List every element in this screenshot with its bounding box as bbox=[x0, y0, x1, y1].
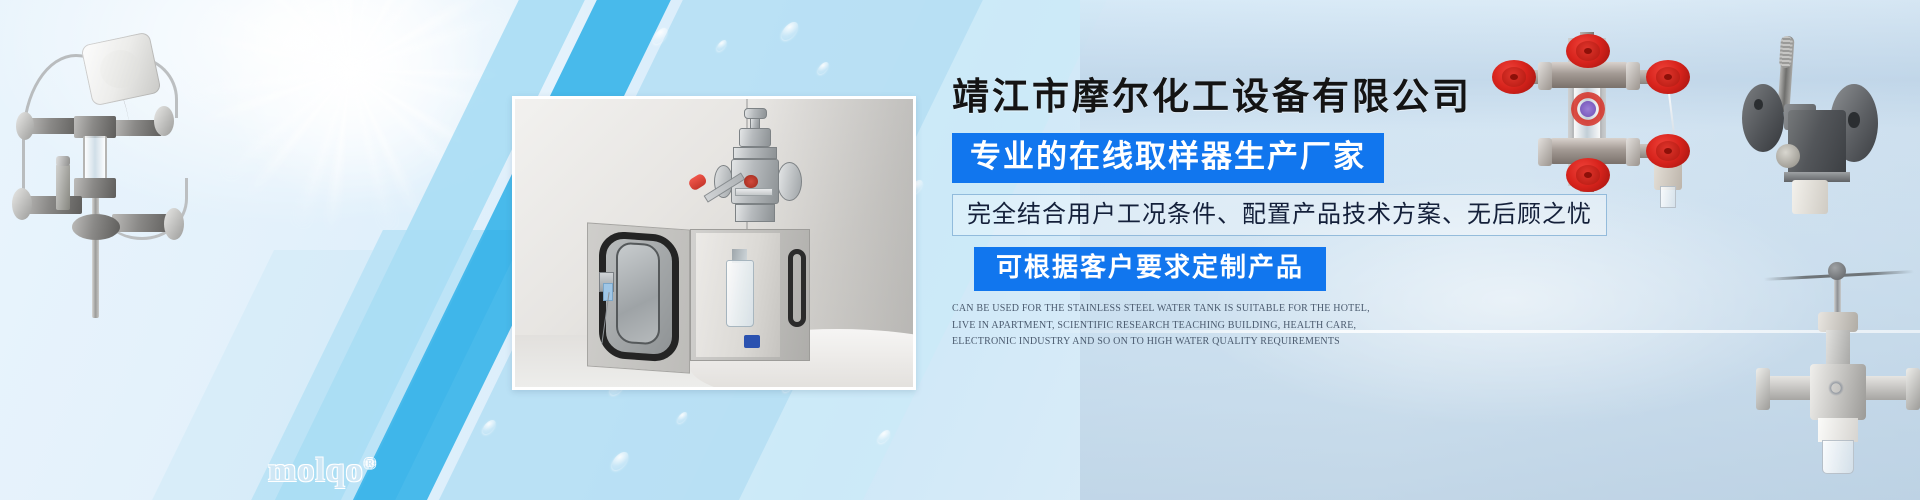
sample-bottle bbox=[726, 260, 754, 326]
valve-hub-mid bbox=[74, 178, 116, 198]
sampler-arm-left bbox=[1762, 376, 1814, 400]
tagline-bar: 可根据客户要求定制产品 bbox=[974, 247, 1326, 291]
relief-valve-cap bbox=[56, 156, 70, 166]
flange-lower-right bbox=[164, 208, 184, 240]
relief-valve-body bbox=[56, 164, 70, 210]
valve-brand-badge bbox=[744, 175, 757, 188]
flange-upper-right bbox=[154, 106, 174, 136]
headline-bar: 专业的在线取样器生产厂家 bbox=[952, 133, 1384, 183]
company-title: 靖江市摩尔化工设备有限公司 bbox=[952, 78, 1852, 119]
valve-arm-upper-right bbox=[112, 120, 162, 136]
tubing-arc-upper bbox=[22, 54, 130, 200]
sampling-valve-assembly bbox=[710, 108, 806, 238]
lever-handle-grip bbox=[1779, 36, 1793, 69]
product-photo bbox=[512, 96, 916, 390]
transmitter-dial bbox=[96, 46, 143, 91]
cabinet-door-window bbox=[616, 241, 660, 345]
sampler-flange-right bbox=[1906, 368, 1920, 410]
left-equipment-illustration bbox=[8, 28, 198, 318]
valve-arm-lower-right bbox=[112, 214, 172, 232]
valve-flange-right bbox=[777, 162, 802, 201]
valve-hub-upper bbox=[74, 116, 116, 138]
valve-mid-collar bbox=[733, 147, 777, 160]
valve-upper-housing bbox=[739, 128, 771, 146]
valve-tree-stem-top bbox=[1580, 32, 1594, 64]
valve-nameplate bbox=[735, 188, 773, 196]
brand-watermark: molqo® bbox=[268, 452, 377, 490]
sight-glass bbox=[83, 136, 107, 182]
handwheel-top bbox=[1566, 34, 1610, 68]
headline-text: 专业的在线取样器生产厂家 bbox=[970, 139, 1366, 174]
valve-hub-lower bbox=[72, 214, 120, 240]
cabinet-side-handle bbox=[788, 249, 806, 327]
tubing-arc-top-right bbox=[116, 56, 178, 118]
valve-arm-upper-left bbox=[26, 118, 80, 134]
tagline-text: 可根据客户要求定制产品 bbox=[996, 252, 1304, 282]
sun-flare-decoration bbox=[150, 0, 550, 270]
banner-text-block: 靖江市摩尔化工设备有限公司 专业的在线取样器生产厂家 完全结合用户工况条件、配置… bbox=[952, 78, 1852, 351]
sampler-collar bbox=[1818, 418, 1858, 442]
sampler-valve-body bbox=[1810, 364, 1866, 420]
valve-base bbox=[735, 204, 775, 222]
english-description: CAN BE USED FOR THE STAINLESS STEEL WATE… bbox=[952, 301, 1372, 351]
promotional-banner: 靖江市摩尔化工设备有限公司 专业的在线取样器生产厂家 完全结合用户工况条件、配置… bbox=[0, 0, 1920, 500]
flange-lower-left bbox=[12, 188, 32, 220]
registered-mark-icon: ® bbox=[364, 456, 377, 473]
sampler-body-logo bbox=[1828, 380, 1844, 396]
valve-arm-lower-left bbox=[22, 196, 82, 214]
sampler-collection-vial bbox=[1822, 440, 1854, 474]
sampler-flange-left bbox=[1756, 368, 1770, 410]
transmitter-housing bbox=[80, 31, 161, 106]
flange-upper-left bbox=[16, 112, 34, 140]
sample-bottle-cap bbox=[744, 335, 760, 348]
mounting-post bbox=[92, 178, 99, 318]
subline-text: 完全结合用户工况条件、配置产品技术方案、无后顾之忧 bbox=[967, 201, 1592, 228]
sampler-arm-right bbox=[1862, 376, 1914, 400]
watermark-wordmark: molqo bbox=[268, 452, 364, 489]
tubing-arc-lower bbox=[96, 178, 188, 240]
subline-box: 完全结合用户工况条件、配置产品技术方案、无后顾之忧 bbox=[952, 194, 1607, 237]
